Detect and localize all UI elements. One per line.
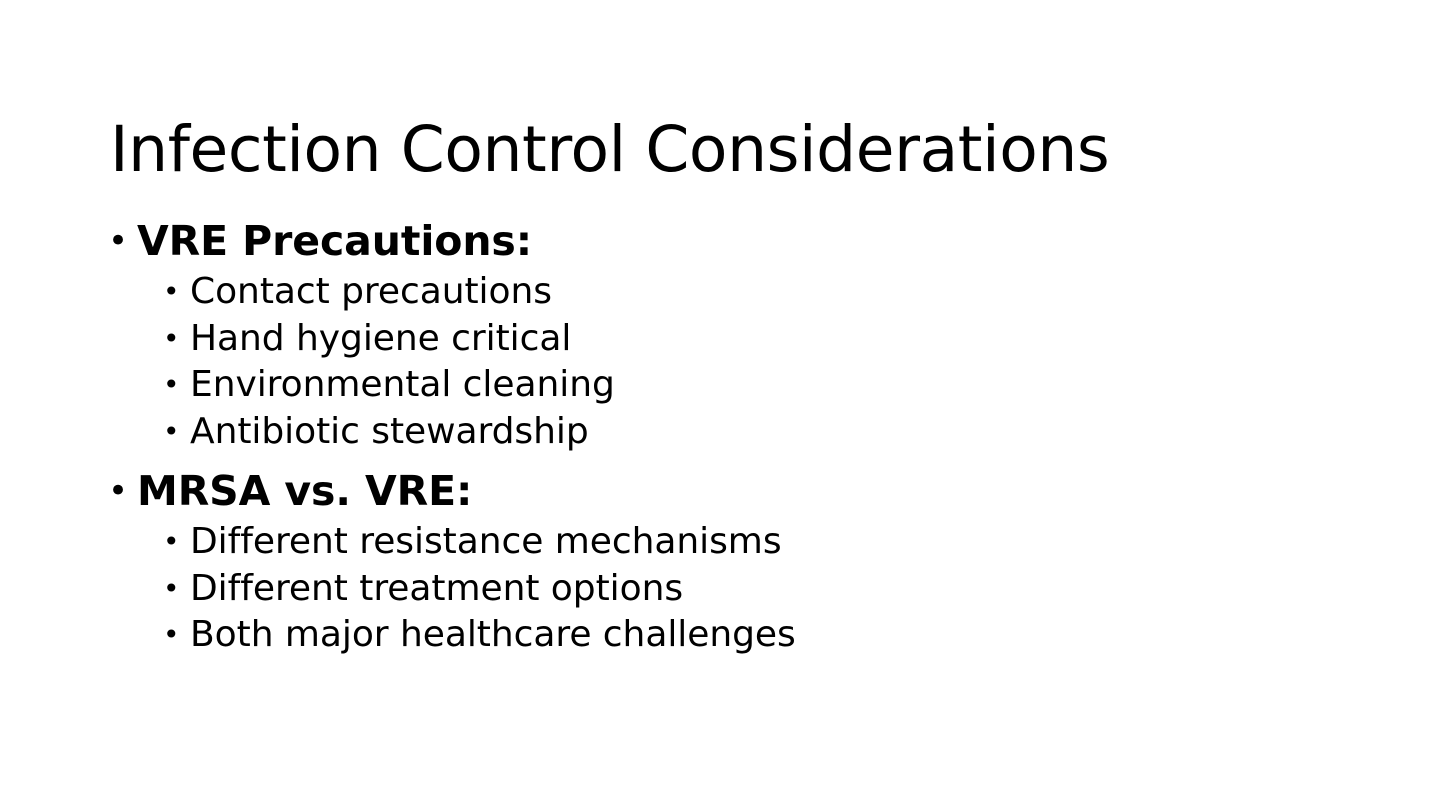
- bullet-heading-vre-precautions: VRE Precautions:: [108, 214, 1368, 269]
- list-item: Antibiotic stewardship: [108, 409, 1368, 456]
- sub-bullet-label: Environmental cleaning: [190, 362, 615, 409]
- list-item: Contact precautions: [108, 269, 1368, 316]
- sub-bullet-label: Contact precautions: [190, 269, 552, 316]
- list-item: Different treatment options: [108, 566, 1368, 613]
- bullet-heading-mrsa-vs-vre: MRSA vs. VRE:: [108, 464, 1368, 519]
- sub-bullet-label: Different resistance mechanisms: [190, 519, 782, 566]
- sub-bullet-label: Antibiotic stewardship: [190, 409, 589, 456]
- presentation-slide: Infection Control Considerations VRE Pre…: [0, 0, 1440, 810]
- slide-body: VRE Precautions: Contact precautions Han…: [108, 214, 1368, 659]
- list-item: Both major healthcare challenges: [108, 612, 1368, 659]
- slide-title: Infection Control Considerations: [110, 116, 1350, 184]
- bullet-list: VRE Precautions: Contact precautions Han…: [108, 214, 1368, 659]
- sub-bullet-list-mrsa: Different resistance mechanisms Differen…: [108, 519, 1368, 659]
- sublist-container-mrsa: Different resistance mechanisms Differen…: [108, 519, 1368, 659]
- bullet-heading-label: VRE Precautions:: [137, 214, 532, 269]
- list-item: Hand hygiene critical: [108, 316, 1368, 363]
- bullet-heading-label: MRSA vs. VRE:: [137, 464, 472, 519]
- sub-bullet-label: Both major healthcare challenges: [190, 612, 796, 659]
- sublist-container-vre: Contact precautions Hand hygiene critica…: [108, 269, 1368, 455]
- sub-bullet-list-vre: Contact precautions Hand hygiene critica…: [108, 269, 1368, 455]
- sub-bullet-label: Hand hygiene critical: [190, 316, 571, 363]
- list-item: Environmental cleaning: [108, 362, 1368, 409]
- list-item: Different resistance mechanisms: [108, 519, 1368, 566]
- sub-bullet-label: Different treatment options: [190, 566, 683, 613]
